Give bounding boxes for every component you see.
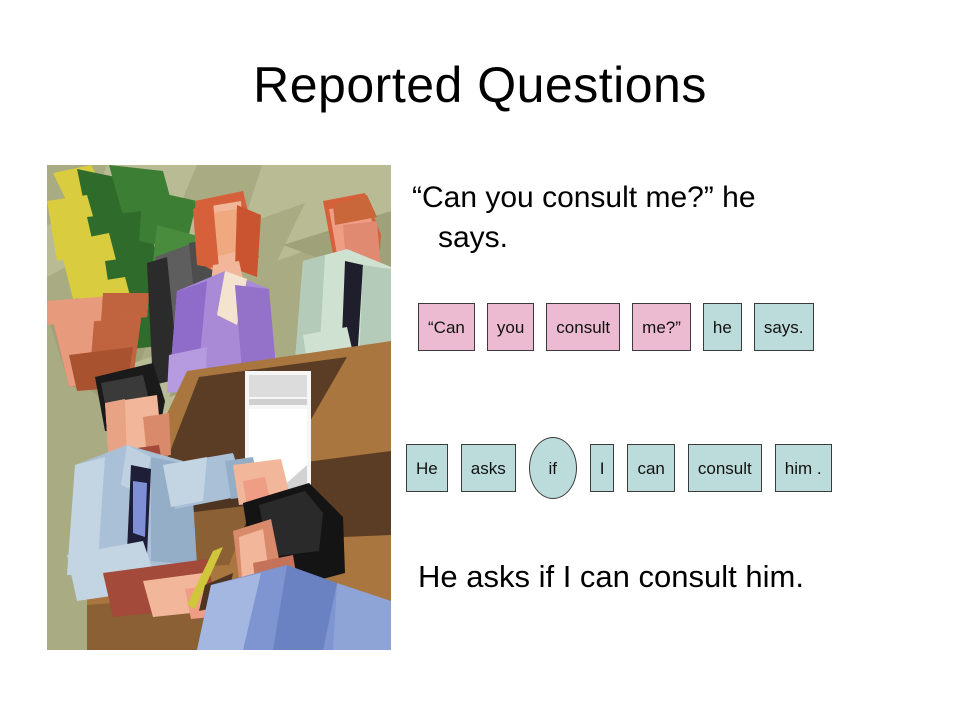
word-box-says[interactable]: says.: [754, 303, 814, 351]
word-box-you[interactable]: you: [487, 303, 534, 351]
page-title: Reported Questions: [0, 58, 960, 113]
reported-speech-word-boxes: He asks if I can consult him .: [406, 437, 832, 499]
word-box-he-subject[interactable]: He: [406, 444, 448, 492]
meeting-illustration-artwork: [47, 165, 391, 650]
word-box-can[interactable]: can: [627, 444, 674, 492]
word-box-he[interactable]: he: [703, 303, 742, 351]
word-box-me[interactable]: me?”: [632, 303, 691, 351]
direct-speech-line-1: “Can you consult me?” he: [412, 181, 756, 214]
word-box-if[interactable]: if: [529, 437, 577, 499]
direct-speech-sentence: “Can you consult me?” he says.: [412, 178, 882, 257]
word-box-can[interactable]: “Can: [418, 303, 475, 351]
direct-speech-line-2: says.: [412, 218, 508, 258]
direct-speech-word-boxes: “Can you consult me?” he says.: [418, 303, 814, 351]
word-box-i[interactable]: I: [590, 444, 615, 492]
slide-canvas: Reported Questions: [0, 0, 960, 720]
word-box-him[interactable]: him .: [775, 444, 832, 492]
meeting-illustration: [47, 165, 391, 650]
word-box-consult[interactable]: consult: [546, 303, 620, 351]
word-box-consult-reported[interactable]: consult: [688, 444, 762, 492]
word-box-asks[interactable]: asks: [461, 444, 516, 492]
reported-speech-sentence: He asks if I can consult him.: [418, 558, 938, 597]
